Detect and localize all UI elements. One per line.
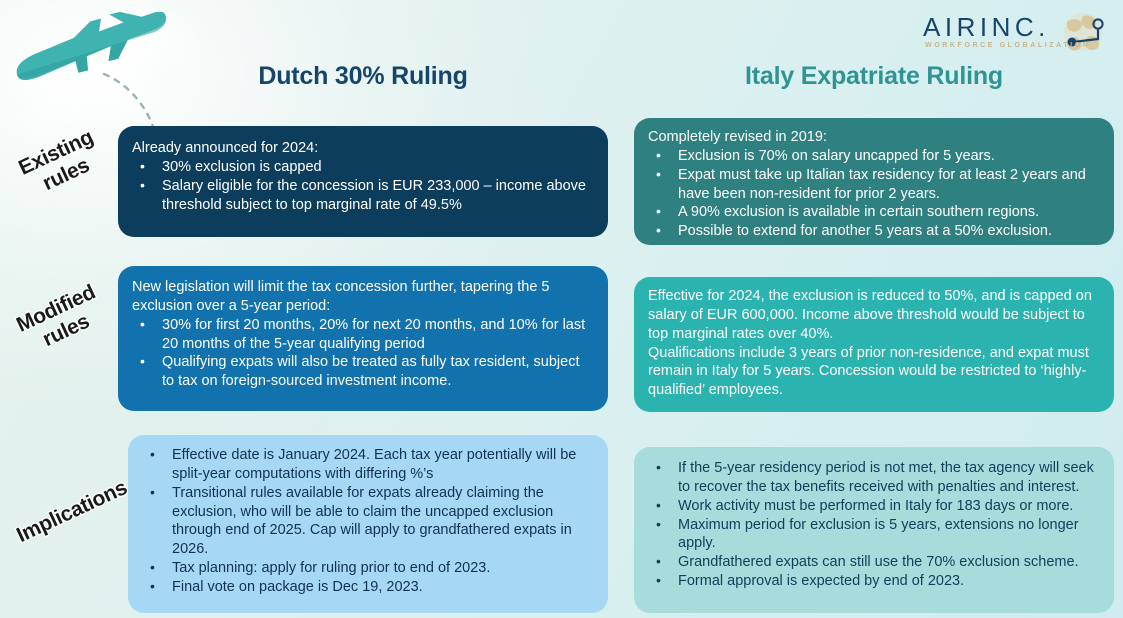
list-item: 30% for first 20 months, 20% for next 20… bbox=[132, 316, 594, 354]
content-box-italy-modified: Effective for 2024, the exclusion is red… bbox=[634, 277, 1114, 412]
list-item: Grandfathered expats can still use the 7… bbox=[648, 553, 1100, 572]
box-lead-text: Already announced for 2024: bbox=[132, 139, 594, 158]
list-item: Qualifying expats will also be treated a… bbox=[132, 353, 594, 391]
list-item: Possible to extend for another 5 years a… bbox=[648, 222, 1100, 241]
airinc-logo: AIRINC. WORKFORCE GLOBALIZATION bbox=[923, 8, 1105, 58]
column-title-italy: Italy Expatriate Ruling bbox=[634, 62, 1114, 91]
logo-tagline: WORKFORCE GLOBALIZATION bbox=[925, 42, 1090, 49]
globe-icon bbox=[1057, 8, 1111, 58]
content-box-dutch-modified: New legislation will limit the tax conce… bbox=[118, 266, 608, 411]
list-item: Formal approval is expected by end of 20… bbox=[648, 572, 1100, 591]
list-item: A 90% exclusion is available in certain … bbox=[648, 203, 1100, 222]
bullet-list: Exclusion is 70% on salary uncapped for … bbox=[648, 147, 1100, 241]
list-item: Maximum period for exclusion is 5 years,… bbox=[648, 516, 1100, 554]
list-item: Final vote on package is Dec 19, 2023. bbox=[142, 578, 594, 597]
box-lead-text: Completely revised in 2019: bbox=[648, 128, 1100, 147]
list-item: Tax planning: apply for ruling prior to … bbox=[142, 559, 594, 578]
slide-canvas: AIRINC. WORKFORCE GLOBALIZATION Dutch 30… bbox=[0, 0, 1123, 618]
column-title-dutch: Dutch 30% Ruling bbox=[118, 62, 608, 91]
box-paragraph: Effective for 2024, the exclusion is red… bbox=[648, 287, 1100, 344]
row-label-modified-rules: Modified rules bbox=[0, 271, 130, 369]
cloud-icon bbox=[10, 104, 80, 130]
box-lead-text: New legislation will limit the tax conce… bbox=[132, 278, 594, 316]
content-box-dutch-implications: Effective date is January 2024. Each tax… bbox=[128, 435, 608, 613]
bullet-list: Effective date is January 2024. Each tax… bbox=[142, 446, 594, 597]
cloud-icon bbox=[36, 88, 144, 122]
list-item: Transitional rules available for expats … bbox=[142, 484, 594, 559]
box-paragraph: Qualifications include 3 years of prior … bbox=[648, 344, 1100, 401]
content-box-italy-implications: If the 5-year residency period is not me… bbox=[634, 447, 1114, 613]
list-item: Exclusion is 70% on salary uncapped for … bbox=[648, 147, 1100, 166]
list-item: Expat must take up Italian tax residency… bbox=[648, 166, 1100, 204]
content-box-dutch-existing: Already announced for 2024: 30% exclusio… bbox=[118, 126, 608, 237]
list-item: Effective date is January 2024. Each tax… bbox=[142, 446, 594, 484]
list-item: 30% exclusion is capped bbox=[132, 158, 594, 177]
bullet-list: If the 5-year residency period is not me… bbox=[648, 459, 1100, 591]
row-label-existing-rules: Existing rules bbox=[0, 115, 130, 213]
bullet-list: 30% exclusion is capped Salary eligible … bbox=[132, 158, 594, 215]
list-item: Work activity must be performed in Italy… bbox=[648, 497, 1100, 516]
bullet-list: 30% for first 20 months, 20% for next 20… bbox=[132, 316, 594, 391]
content-box-italy-existing: Completely revised in 2019: Exclusion is… bbox=[634, 118, 1114, 245]
cloud-icon bbox=[128, 18, 188, 54]
list-item: If the 5-year residency period is not me… bbox=[648, 459, 1100, 497]
cloud-icon bbox=[42, 40, 120, 74]
logo-wordmark: AIRINC. bbox=[923, 12, 1050, 43]
list-item: Salary eligible for the concession is EU… bbox=[132, 177, 594, 215]
